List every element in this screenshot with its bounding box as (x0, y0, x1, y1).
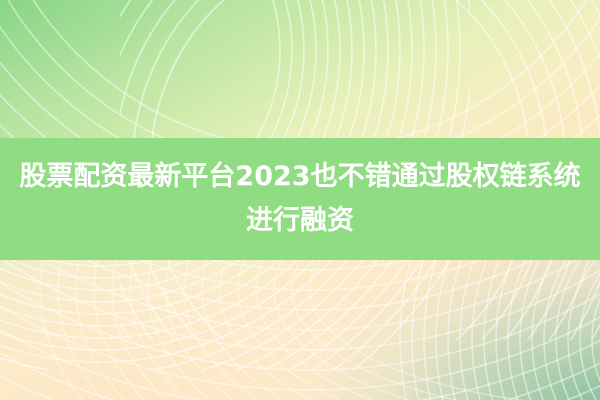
banner-canvas: 股票配资最新平台2023也不错通过股权链系统进行融资 (0, 0, 600, 400)
banner-headline: 股票配资最新平台2023也不错通过股权链系统进行融资 (12, 155, 588, 243)
title-band: 股票配资最新平台2023也不错通过股权链系统进行融资 (0, 138, 600, 260)
